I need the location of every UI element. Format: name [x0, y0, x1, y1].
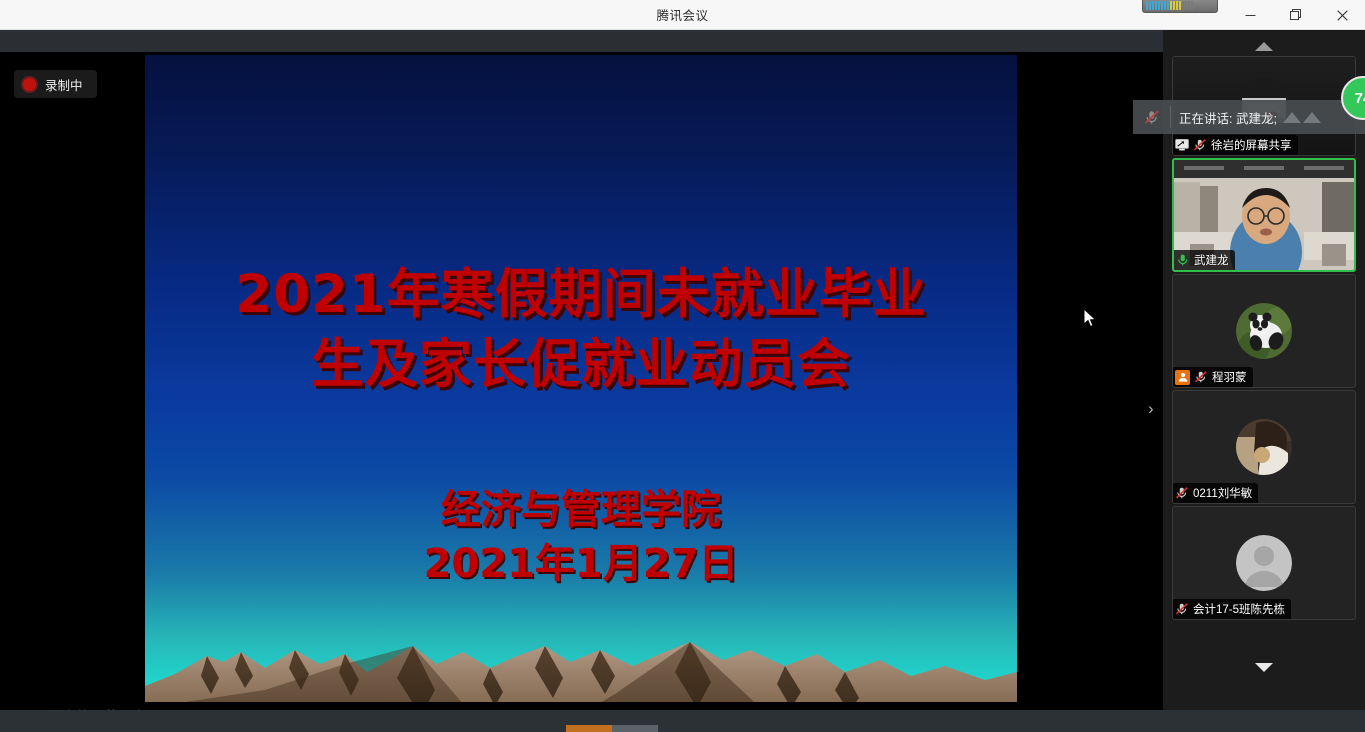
participant-name: 0211刘华敏 [1193, 485, 1252, 501]
recording-label: 录制中 [45, 75, 83, 94]
avatar [1236, 535, 1292, 591]
speaking-label: 正在讲话: 武建龙; [1171, 108, 1277, 127]
shared-screen-area: 录制中 2021年寒假期间未就业毕业 生及家长促就业动员会 经济与管理学院 20… [0, 30, 1163, 702]
mountain-graphic [145, 616, 1017, 702]
avatar [1236, 303, 1292, 359]
collapse-panel-chevron-icon[interactable]: › [1148, 400, 1154, 417]
banner-mic-muted-icon [1133, 106, 1171, 128]
recording-indicator: 录制中 [14, 70, 97, 98]
participant-tile-active-speaker[interactable]: 武建龙 [1172, 158, 1356, 272]
slide-subtitle-line-2: 2021年1月27日 [145, 537, 1017, 591]
tile-namebar: 程羽蒙 [1173, 367, 1253, 387]
participant-name: 武建龙 [1194, 252, 1229, 268]
speaking-banner: 正在讲话: 武建龙; [1133, 100, 1365, 134]
signal-chevrons-icon [1283, 112, 1321, 123]
slide-subtitle: 经济与管理学院 2021年1月27日 [145, 483, 1017, 591]
participant-tile-4[interactable]: 0211刘华敏 [1172, 390, 1356, 504]
participant-tile-5[interactable]: 会计17-5班陈先栋 [1172, 506, 1356, 620]
scroll-down-button[interactable] [1163, 655, 1365, 679]
avatar [1236, 419, 1292, 475]
maximize-button[interactable] [1273, 0, 1319, 30]
meeting-window: 腾讯会议 [0, 0, 1365, 732]
taskbar-item-active[interactable] [566, 725, 612, 732]
mouse-cursor [1083, 308, 1097, 328]
audio-level-meter-icon [1142, 0, 1218, 13]
slide-title-line-2: 生及家长促就业动员会 [145, 330, 1017, 400]
participant-name: 会计17-5班陈先栋 [1193, 601, 1285, 617]
screen-share-icon [1175, 139, 1189, 151]
host-badge-icon [1175, 370, 1190, 385]
participant-rail: 徐岩的屏幕共享 [1163, 30, 1365, 732]
mic-muted-icon [1193, 139, 1207, 151]
tile-namebar: 徐岩的屏幕共享 [1173, 135, 1298, 155]
slide-subtitle-line-1: 经济与管理学院 [145, 483, 1017, 537]
mic-muted-icon [1175, 487, 1189, 499]
minimize-button[interactable] [1227, 0, 1273, 30]
window-titlebar: 腾讯会议 [0, 0, 1365, 30]
tile-namebar: 0211刘华敏 [1173, 483, 1258, 503]
tile-namebar: 会计17-5班陈先栋 [1173, 599, 1291, 619]
scroll-up-button[interactable] [1163, 34, 1365, 58]
participant-tile-host[interactable]: 程羽蒙 [1172, 274, 1356, 388]
os-taskbar[interactable] [0, 710, 1365, 732]
close-button[interactable] [1319, 0, 1365, 30]
mic-muted-icon [1175, 603, 1189, 615]
participant-name: 程羽蒙 [1212, 369, 1247, 385]
slide-title: 2021年寒假期间未就业毕业 生及家长促就业动员会 [145, 260, 1017, 400]
slide-title-line-1: 2021年寒假期间未就业毕业 [145, 260, 1017, 330]
tile-namebar: 武建龙 [1174, 250, 1235, 270]
chevron-up-icon [1255, 42, 1273, 51]
window-title: 腾讯会议 [656, 5, 708, 24]
chevron-down-icon [1255, 663, 1273, 672]
participant-tiles: 徐岩的屏幕共享 [1163, 56, 1365, 622]
mic-active-icon [1176, 253, 1190, 267]
presentation-slide: 2021年寒假期间未就业毕业 生及家长促就业动员会 经济与管理学院 2021年1… [145, 55, 1017, 702]
recording-dot-icon [23, 78, 36, 91]
taskbar-item-inactive[interactable] [612, 725, 658, 732]
participant-name: 徐岩的屏幕共享 [1211, 137, 1292, 153]
window-controls [1227, 0, 1365, 30]
mic-muted-icon [1194, 371, 1208, 383]
